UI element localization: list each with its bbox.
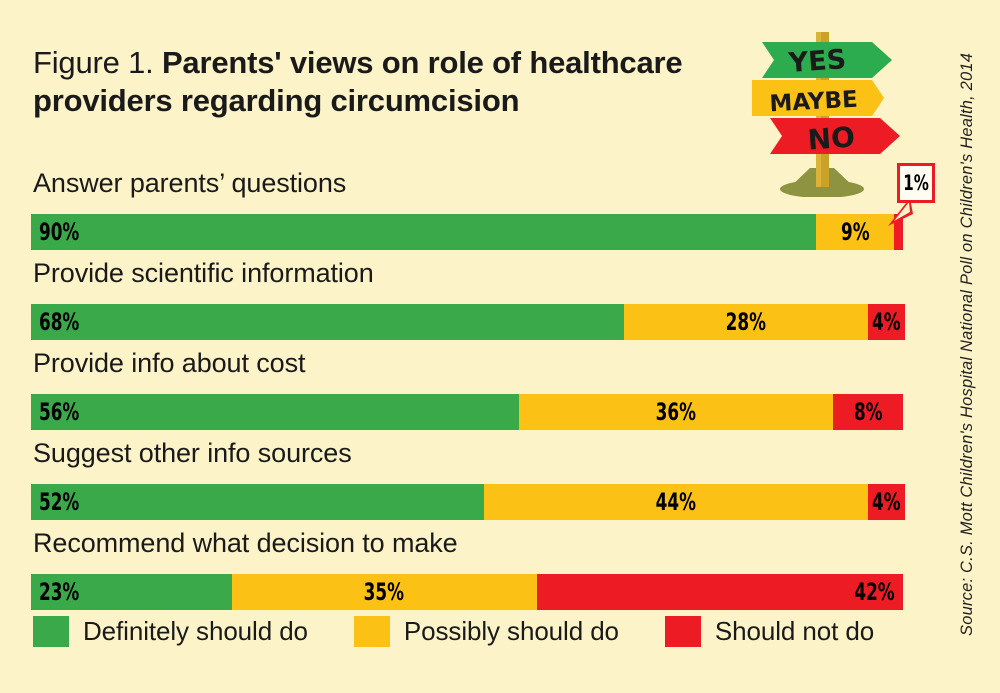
legend-item: Definitely should do (33, 616, 308, 647)
bar-segment-value: 4% (872, 488, 901, 516)
bar-segment-value: 28% (726, 308, 766, 336)
bar-segment: 4% (868, 304, 905, 340)
bar-segment: 4% (868, 484, 905, 520)
bar-segment: 28% (624, 304, 868, 340)
bar-segment: 42% (537, 574, 903, 610)
sign-no-label: NO (807, 120, 856, 156)
callout-label: 1% (903, 171, 929, 195)
legend-label: Should not do (715, 616, 874, 647)
bar-segment: 9% (816, 214, 894, 250)
sign-yes-label: YES (787, 44, 847, 79)
bar-segment-value: 90% (39, 218, 79, 246)
legend-item: Should not do (665, 616, 874, 647)
stacked-bar: 52%44%4% (31, 484, 903, 520)
category-label: Provide info about cost (33, 348, 305, 379)
bar-segment: 90% (31, 214, 816, 250)
legend-swatch-icon (33, 616, 69, 647)
bar-segment: 44% (484, 484, 868, 520)
bar-segment: 8% (833, 394, 903, 430)
bar-segment-value: 52% (39, 488, 79, 516)
bar-chart-rows: Answer parents’ questions90%9%1%Provide … (0, 168, 1000, 618)
category-label: Recommend what decision to make (33, 528, 458, 559)
legend-swatch-icon (665, 616, 701, 647)
stacked-bar: 56%36%8% (31, 394, 903, 430)
bar-segment-value: 9% (841, 218, 870, 246)
bar-segment: 52% (31, 484, 484, 520)
chart-row: Provide info about cost56%36%8% (0, 348, 1000, 438)
bar-segment: 35% (232, 574, 537, 610)
legend-label: Definitely should do (83, 616, 308, 647)
bar-segment-value: 36% (656, 398, 696, 426)
callout-box-1-percent: 1% (897, 163, 935, 203)
bar-segment-value: 42% (855, 578, 895, 606)
category-label: Provide scientific information (33, 258, 374, 289)
figure-number: Figure 1. (33, 45, 162, 80)
category-label: Suggest other info sources (33, 438, 352, 469)
chart-row: Suggest other info sources52%44%4% (0, 438, 1000, 528)
source-note: Source: C.S. Mott Children's Hospital Na… (958, 53, 977, 636)
bar-segment: 68% (31, 304, 624, 340)
bar-segment: 56% (31, 394, 519, 430)
stacked-bar: 90%9%1% (31, 214, 903, 250)
legend-swatch-icon (354, 616, 390, 647)
bar-segment-value: 35% (364, 578, 404, 606)
page-title: Figure 1. Parents' views on role of heal… (33, 44, 733, 119)
stacked-bar: 68%28%4% (31, 304, 903, 340)
bar-segment-value: 56% (39, 398, 79, 426)
category-label: Answer parents’ questions (33, 168, 346, 199)
figure-canvas: Figure 1. Parents' views on role of heal… (0, 0, 1000, 693)
bar-segment-value: 4% (872, 308, 901, 336)
chart-row: Answer parents’ questions90%9%1% (0, 168, 1000, 258)
bar-segment: 23% (31, 574, 232, 610)
chart-row: Recommend what decision to make23%35%42% (0, 528, 1000, 618)
stacked-bar: 23%35%42% (31, 574, 903, 610)
bar-segment: 36% (519, 394, 833, 430)
sign-maybe-label: MAYBE (769, 87, 859, 118)
bar-segment-value: 68% (39, 308, 79, 336)
legend-item: Possibly should do (354, 616, 619, 647)
bar-segment-value: 44% (656, 488, 696, 516)
bar-segment-value: 8% (854, 398, 883, 426)
legend: Definitely should doPossibly should doSh… (33, 616, 920, 647)
bar-segment-value: 23% (39, 578, 79, 606)
chart-row: Provide scientific information68%28%4% (0, 258, 1000, 348)
legend-label: Possibly should do (404, 616, 619, 647)
